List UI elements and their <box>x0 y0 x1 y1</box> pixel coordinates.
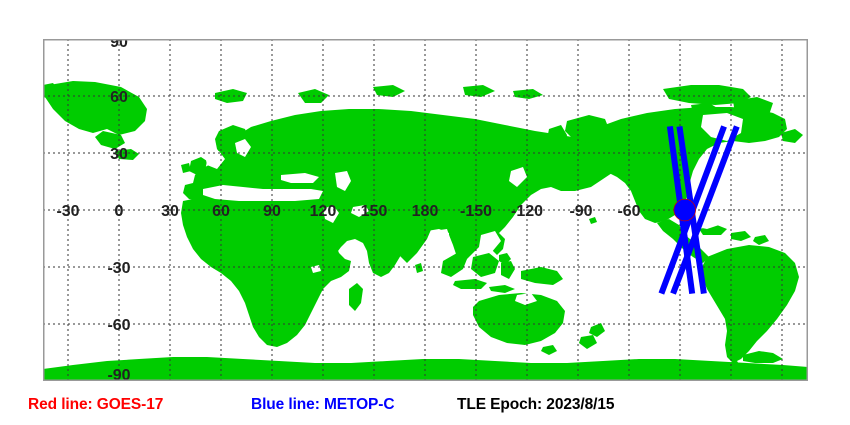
lon-label-150: 150 <box>361 203 388 220</box>
world-map-svg: -30 0 30 60 90 120 150 180 -150 -120 -90… <box>43 39 808 381</box>
ground-track-page: -30 0 30 60 90 120 150 180 -150 -120 -90… <box>0 0 850 425</box>
lon-label-60: 60 <box>212 203 230 220</box>
lat-label-90: 90 <box>110 39 128 51</box>
lon-label--30: -30 <box>56 203 79 220</box>
lon-label-30: 30 <box>161 203 179 220</box>
lon-label-90: 90 <box>263 203 281 220</box>
lon-label--120: -120 <box>511 203 543 220</box>
lat-label--90: -90 <box>107 367 130 381</box>
metopc-marker-icon <box>674 200 695 221</box>
lat-label-0: 0 <box>115 203 124 220</box>
lon-label--150: -150 <box>460 203 492 220</box>
world-map: -30 0 30 60 90 120 150 180 -150 -120 -90… <box>43 39 808 381</box>
legend-tle-epoch: TLE Epoch: 2023/8/15 <box>457 396 614 414</box>
legend: Red line: GOES-17 Blue line: METOP-C TLE… <box>0 396 850 422</box>
legend-red-line: Red line: GOES-17 <box>28 396 163 414</box>
lon-label-120: 120 <box>310 203 337 220</box>
lat-label-60: 60 <box>110 89 128 106</box>
lat-label--30: -30 <box>107 260 130 277</box>
lon-label--90: -90 <box>569 203 592 220</box>
lat-label--60: -60 <box>107 317 130 334</box>
lon-label-180: 180 <box>412 203 439 220</box>
lon-label--60: -60 <box>617 203 640 220</box>
lat-label-30: 30 <box>110 146 128 163</box>
legend-blue-line: Blue line: METOP-C <box>251 396 394 414</box>
